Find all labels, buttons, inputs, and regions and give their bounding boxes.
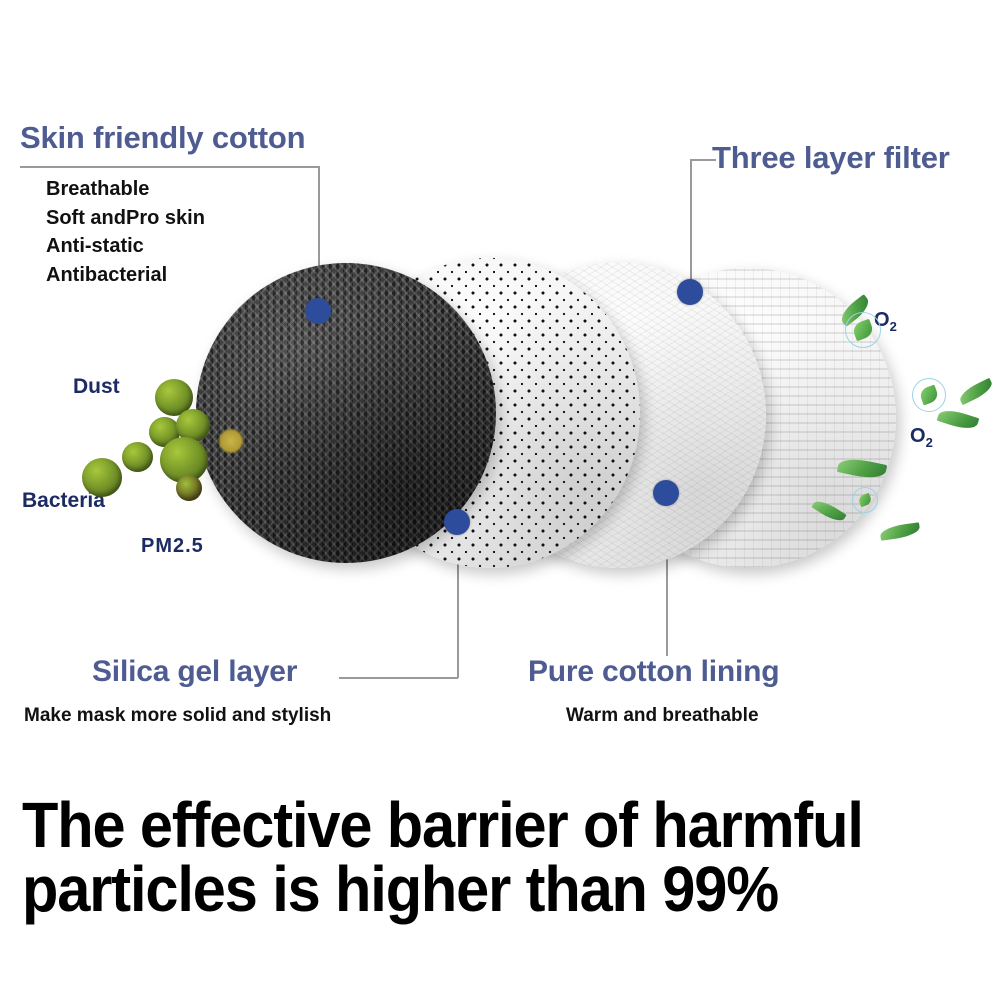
label-pm25: PM2.5: [141, 535, 204, 558]
connector-dot-pure-cotton-lining[interactable]: [653, 480, 679, 506]
heading-skin-friendly-cotton: Skin friendly cotton: [20, 120, 305, 156]
heading-silica-gel-layer: Silica gel layer: [92, 655, 297, 689]
particle-blob: [82, 458, 122, 497]
connector-dot-silica-gel-layer[interactable]: [444, 509, 470, 535]
infographic-canvas: Skin friendly cotton Three layer filter …: [0, 0, 1001, 1001]
oxygen-bubble: [845, 312, 881, 348]
feature-bullet: Breathable: [46, 175, 205, 204]
heading-pure-cotton-lining: Pure cotton lining: [528, 655, 779, 689]
heading-three-layer-filter: Three layer filter: [712, 140, 950, 176]
leaf-shape: [957, 378, 995, 405]
leader-line-silica-horizontal: [339, 677, 458, 679]
bottom-headline: The effective barrier of harmful particl…: [22, 793, 919, 921]
oxygen-subscript: 2: [926, 435, 933, 450]
subcaption-silica-gel-layer: Make mask more solid and stylish: [24, 705, 331, 727]
oxygen-subscript: 2: [890, 319, 897, 334]
leaf-icon: [918, 385, 939, 406]
leaf-icon: [851, 319, 875, 341]
pollen-speck: [218, 428, 244, 454]
label-dust: Dust: [73, 375, 120, 399]
feature-bullet: Soft andPro skin: [46, 204, 205, 233]
connector-dot-three-layer-filter[interactable]: [677, 279, 703, 305]
subcaption-pure-cotton-lining: Warm and breathable: [566, 705, 759, 727]
feature-bullet-list: Breathable Soft andPro skin Anti-static …: [46, 175, 205, 289]
oxygen-bubble: [912, 378, 946, 412]
oxygen-bubble: [852, 487, 878, 513]
leaf-shape: [879, 522, 920, 540]
leader-line-skin-horizontal: [20, 166, 319, 168]
particle-blob: [122, 442, 153, 472]
leaf-shape: [937, 406, 980, 433]
leader-line-three-vertical: [690, 159, 692, 293]
leaf-icon: [857, 493, 872, 507]
connector-dot-skin-friendly-cotton[interactable]: [305, 298, 331, 324]
label-oxygen-lower: O2: [910, 425, 933, 450]
feature-bullet: Antibacterial: [46, 261, 205, 290]
particle-blob: [176, 475, 202, 501]
oxygen-symbol: O: [910, 425, 926, 447]
feature-bullet: Anti-static: [46, 232, 205, 261]
